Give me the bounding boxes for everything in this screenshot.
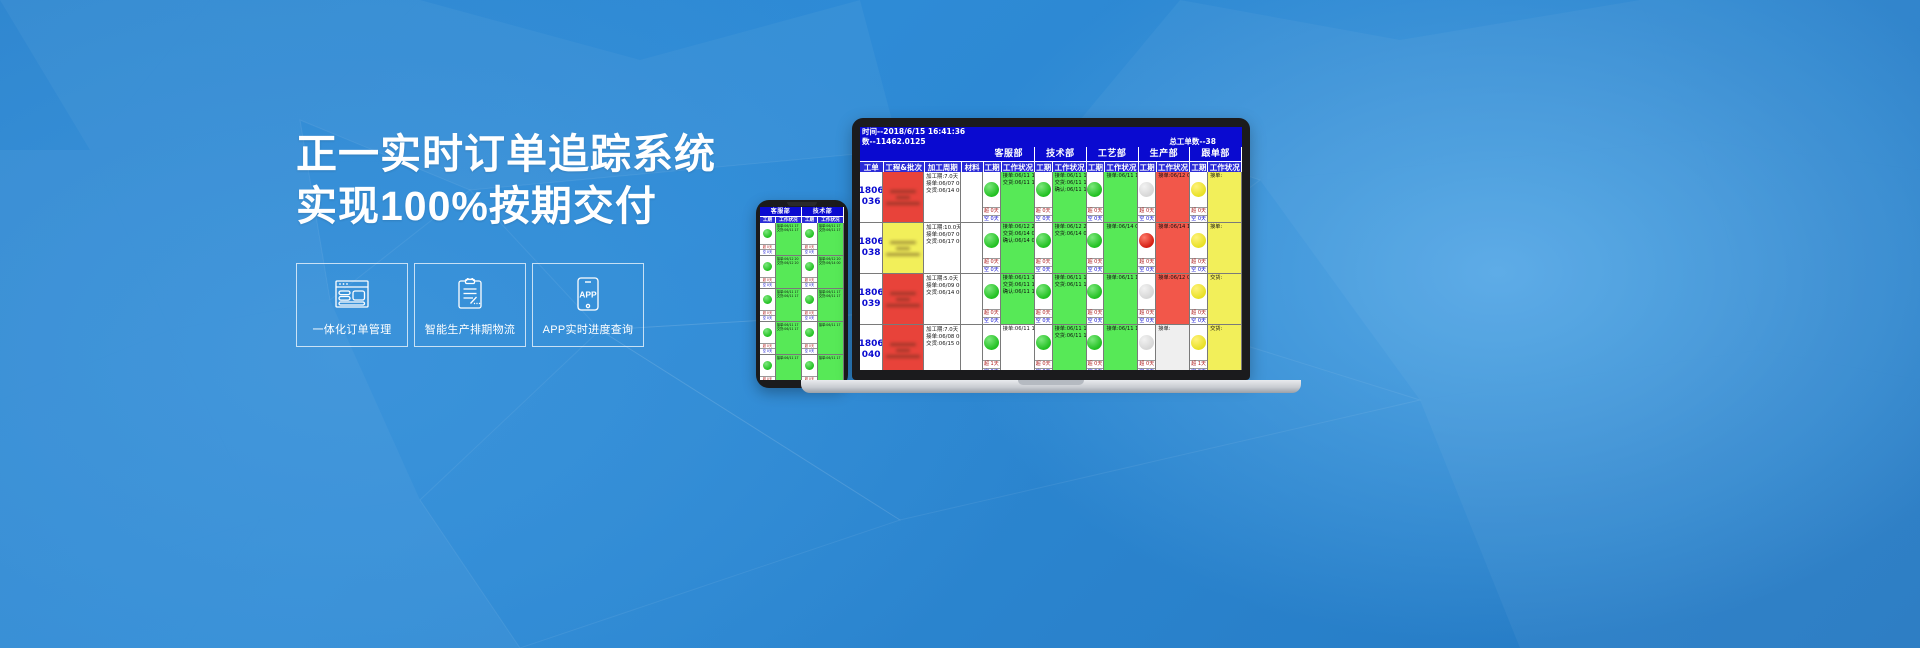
headline-line-2: 实现100%按期交付 [296,180,716,232]
erp-work-line-0: 接单: [1210,224,1240,231]
erp-cell-workstatus-1[interactable]: 接单:06/11 17交货:06/11 17 [1053,325,1087,370]
phone-work-line-1: 交货:06/14 00 [819,261,843,265]
laptop-mockup: 时间--2018/6/15 16:41:36 数--11462.0125 总工单… [852,118,1301,393]
phone-cell-duty-0[interactable]: 超 0天空 0天 [760,322,776,354]
erp-work-line-0: 接单:06/11 17 [1055,275,1085,282]
phone-idle-days: 空 0天 [760,249,775,255]
erp-over-days: 超 1天 [983,360,1000,368]
phone-cell-duty-0[interactable]: 超 0天空 0天 [760,256,776,288]
erp-idle-days: 空 0天 [1087,317,1104,325]
erp-cell-material [961,274,983,324]
erp-cycle-line-2: 交货:06/14 00 [926,290,959,297]
phone-work-line-1: 交货:06/11 17 [777,294,801,298]
feature-item-app-tracking[interactable]: APP APP实时进度查询 [532,263,644,347]
phone-cell-workstatus-0[interactable]: 接单:06/11 17交货:06/11 17 [776,289,802,321]
erp-cell-project [883,223,924,273]
erp-over-days: 超 1天 [1190,360,1207,368]
erp-cell-material [961,223,983,273]
status-dot-green-icon [763,328,772,337]
erp-over-days: 超 0天 [1190,309,1207,317]
status-dot-yellow-icon [1191,182,1206,197]
status-dot-green-icon [1036,182,1051,197]
phone-table-row[interactable]: 超 0天空 0天接单:06/12 20交货:06/12 20超 0天空 0天接单… [760,256,844,289]
erp-idle-days: 空 0天 [1190,215,1207,223]
erp-work-line-1: 交货:06/14 08 [1055,231,1085,238]
phone-dept-header-1[interactable]: 技术部 [802,207,844,216]
erp-idle-days: 空 0天 [1138,266,1155,274]
erp-cell-workstatus-0[interactable]: 接单:06/11 17交货:06/11 17确认:06/11 17 [1001,274,1035,324]
phone-work-line-1: 交货:06/11 17 [777,228,801,232]
phone-mockup: 客服部技术部 工期工作状况工期工作状况 超 0天空 0天接单:06/11 17交… [756,200,848,388]
erp-cycle-line-0: 加工期:7.0天 [926,327,959,334]
laptop-screen: 时间--2018/6/15 16:41:36 数--11462.0125 总工单… [860,127,1242,370]
erp-cell-workstatus-4[interactable]: 接单: [1208,172,1242,222]
phone-notch [787,202,817,206]
erp-idle-days: 空 0天 [1087,368,1104,371]
erp-col-0-工期[interactable]: 工期 [984,161,1002,172]
phone-screen: 客服部技术部 工期工作状况工期工作状况 超 0天空 0天接单:06/11 17交… [760,207,844,380]
erp-cell-duty-4[interactable]: 超 1天空 0天 [1190,325,1208,370]
status-dot-yellow-icon [1191,335,1206,350]
phone-cell-duty-0[interactable]: 超 0天空 0天 [760,355,776,380]
erp-idle-days: 空 0天 [1087,266,1104,274]
erp-work-line-0: 接单:06/12 09 [1158,275,1188,282]
phone-cell-duty-1[interactable]: 超 0天空 0天 [802,289,818,321]
phone-table-row[interactable]: 超 0天空 0天接单:06/11 17交货:06/11 17超 0天空 0天接单… [760,289,844,322]
erp-over-days: 超 0天 [1138,360,1155,368]
erp-cell-duty-1[interactable]: 超 0天空 0天 [1035,274,1053,324]
status-dot-green-icon [805,262,814,271]
erp-table-body: 1806036加工期:7.0天接单:06/07 00交货:06/14 00超 0… [860,172,1242,370]
phone-work-line-1: 交货:06/11 17 [819,294,843,298]
erp-idle-days: 空 0天 [983,215,1000,223]
erp-cycle-line-2: 交货:06/14 00 [926,188,959,195]
clipboard-icon [456,274,484,314]
feature-item-production-scheduling[interactable]: 智能生产排期物流 [414,263,526,347]
mobile-app-icon: APP [576,274,600,314]
erp-cell-workstatus-4[interactable]: 交货: [1208,325,1242,370]
status-dot-green-icon [763,361,772,370]
erp-col-4-工作状况[interactable]: 工作状况 [1208,161,1242,172]
laptop-trackpad-notch [1018,380,1084,385]
erp-cell-cycle: 加工期:7.0天接单:06/07 00交货:06/14 00 [924,172,961,222]
phone-idle-days: 空 0天 [760,348,775,354]
phone-cell-duty-1[interactable]: 超 0天空 0天 [802,223,818,255]
app-icon-text: APP [579,290,597,300]
phone-cell-duty-0[interactable]: 超 0天空 0天 [760,289,776,321]
erp-cell-duty-3[interactable]: 超 0天空 0天 [1138,274,1156,324]
erp-cell-duty-0[interactable]: 超 0天空 0天 [983,172,1001,222]
status-dot-green-icon [763,262,772,271]
erp-count-bar: 数--11462.0125 总工单数--38 [860,137,1242,147]
erp-over-days: 超 0天 [1138,207,1155,215]
laptop-base [801,380,1301,393]
erp-over-days: 超 0天 [1087,207,1104,215]
erp-cell-duty-3[interactable]: 超 0天空 0天 [1138,172,1156,222]
erp-cycle-line-2: 交货:06/15 00 [926,341,959,348]
erp-cell-material [961,325,983,370]
erp-cell-workorder: 1806040 [860,325,883,370]
erp-cell-duty-4[interactable]: 超 0天空 0天 [1190,274,1208,324]
status-dot-green-icon [805,229,814,238]
hero-copy: 正一实时订单追踪系统 实现100%按期交付 一体化订单管理 [296,128,716,347]
erp-cell-workstatus-0[interactable]: 接单:06/11 17交货:06/11 17 [1001,172,1035,222]
phone-col-0-工期[interactable]: 工期 [760,216,776,223]
erp-cycle-line-1: 接单:06/09 00 [926,283,959,290]
status-dot-gray-icon [1139,284,1154,299]
erp-idle-days: 空 0天 [983,317,1000,325]
erp-work-line-0: 接单:06/11 17 [1003,326,1033,333]
erp-over-days: 超 0天 [1087,258,1104,266]
feature-item-order-management[interactable]: 一体化订单管理 [296,263,408,347]
erp-cell-duty-1[interactable]: 超 0天空 0天 [1035,172,1053,222]
erp-over-days: 超 0天 [983,309,1000,317]
erp-cell-workstatus-4[interactable]: 交货: [1208,274,1242,324]
erp-over-days: 超 0天 [1138,258,1155,266]
status-dot-green-icon [984,182,999,197]
erp-cell-duty-0[interactable]: 超 0天空 0天 [983,223,1001,273]
erp-work-line-0: 接单:06/11 17 [1003,173,1033,180]
status-dot-green-icon [763,295,772,304]
phone-work-line-0: 接单:06/11 17 [819,323,843,327]
erp-work-line-0: 接单:06/11 17 [1106,275,1136,282]
erp-cell-workstatus-2[interactable]: 接单:06/14 00 [1104,223,1138,273]
status-dot-green-icon [1036,335,1051,350]
feature-label: APP实时进度查询 [543,321,634,337]
phone-cell-duty-0[interactable]: 超 0天空 0天 [760,223,776,255]
erp-work-line-0: 接单:06/12 09 [1158,173,1188,180]
phone-over-days: 超 0天 [760,376,775,380]
erp-work-line-1: 交货:06/11 17 [1055,180,1085,187]
erp-cell-workorder: 1806036 [860,172,883,222]
phone-work-line-1: 交货:06/12 20 [777,261,801,265]
phone-cell-duty-1[interactable]: 超 0天空 0天 [802,322,818,354]
erp-col-工单[interactable]: 工单 [860,161,884,172]
erp-work-line-0: 接单:06/11 17 [1055,173,1085,180]
erp-over-days: 超 0天 [1035,360,1052,368]
erp-table-row[interactable]: 1806036加工期:7.0天接单:06/07 00交货:06/14 00超 0… [860,172,1242,223]
erp-cell-duty-2[interactable]: 超 0天空 0天 [1087,274,1105,324]
erp-cell-workstatus-3[interactable]: 接单:06/14 14 [1156,223,1190,273]
status-dot-green-icon [1087,233,1102,248]
erp-table-row[interactable]: 1806038加工期:10.0天接单:06/07 00交货:06/17 00超 … [860,223,1242,274]
erp-col-2-工期[interactable]: 工期 [1087,161,1105,172]
erp-work-line-2: 确认:06/14 00 [1003,238,1033,245]
erp-cell-duty-4[interactable]: 超 0天空 0天 [1190,223,1208,273]
erp-cycle-line-1: 接单:06/07 00 [926,181,959,188]
erp-work-line-0: 接单:06/11 17 [1106,173,1136,180]
status-dot-green-icon [1087,182,1102,197]
erp-cycle-line-2: 交货:06/17 00 [926,239,959,246]
erp-table-row[interactable]: 1806039加工期:5.0天接单:06/09 00交货:06/14 00超 0… [860,274,1242,325]
status-dot-green-icon [984,284,999,299]
erp-cell-workorder: 1806039 [860,274,883,324]
erp-work-line-2: 确认:06/11 17 [1003,289,1033,296]
erp-dept-header-4[interactable]: 跟单部 [1190,147,1242,161]
erp-idle-days: 空 0天 [983,368,1000,371]
erp-work-line-1: 交货:06/11 17 [1055,333,1085,340]
status-dot-red-icon [1139,233,1154,248]
feature-label: 智能生产排期物流 [425,321,515,337]
erp-cell-workorder: 1806038 [860,223,883,273]
erp-col-3-工作状况[interactable]: 工作状况 [1157,161,1191,172]
erp-over-days: 超 0天 [1138,309,1155,317]
erp-dept-header-0[interactable]: 客服部 [983,147,1035,161]
erp-work-line-0: 接单:06/14 14 [1158,224,1188,231]
status-dot-green-icon [1036,284,1051,299]
erp-work-line-0: 接单:06/11 17 [1003,275,1033,282]
phone-work-line-1: 交货:06/11 17 [819,228,843,232]
phone-table-row[interactable]: 超 0天空 0天接单:06/11 17交货:06/11 17超 0天空 0天接单… [760,223,844,256]
erp-cell-workstatus-4[interactable]: 接单: [1208,223,1242,273]
erp-over-days: 超 0天 [1087,360,1104,368]
erp-idle-days: 空 0天 [1035,317,1052,325]
phone-cell-workstatus-0[interactable]: 接单:06/11 17交货:06/11 17 [776,223,802,255]
erp-dept-header-2[interactable]: 工艺部 [1087,147,1139,161]
erp-cell-project [883,172,924,222]
erp-cycle-line-0: 加工期:7.0天 [926,174,959,181]
erp-cell-project [883,274,924,324]
status-dot-green-icon [1087,335,1102,350]
erp-cell-workstatus-0[interactable]: 接单:06/11 17 [1001,325,1035,370]
erp-col-4-工期[interactable]: 工期 [1190,161,1208,172]
erp-status-bar: 时间--2018/6/15 16:41:36 [860,127,1242,137]
erp-work-line-1: 交货:06/11 17 [1003,282,1033,289]
erp-dept-spacer [860,147,983,161]
erp-idle-days: 空 0天 [1035,215,1052,223]
phone-table-body: 超 0天空 0天接单:06/11 17交货:06/11 17超 0天空 0天接单… [760,223,844,380]
erp-work-line-0: 交货: [1210,326,1240,333]
phone-cell-workstatus-1[interactable]: 接单:06/11 17 [818,355,844,380]
erp-idle-days: 空 0天 [1190,317,1207,325]
erp-col-材料[interactable]: 材料 [962,161,984,172]
phone-cell-workstatus-1[interactable]: 接单:06/11 17交货:06/11 17 [818,223,844,255]
phone-idle-days: 空 0天 [802,348,817,354]
erp-work-line-0: 接单: [1158,326,1188,333]
erp-idle-days: 空 0天 [1087,215,1104,223]
phone-work-line-1: 交货:06/11 17 [777,327,801,331]
erp-over-days: 超 0天 [983,207,1000,215]
erp-col-工程&批次[interactable]: 工程&批次 [884,161,925,172]
erp-cell-workstatus-1[interactable]: 接单:06/11 17交货:06/11 17 [1053,274,1087,324]
erp-cell-workstatus-3[interactable]: 接单: [1156,325,1190,370]
erp-cell-cycle: 加工期:5.0天接单:06/09 00交货:06/14 00 [924,274,961,324]
status-dot-green-icon [1036,233,1051,248]
erp-col-2-工作状况[interactable]: 工作状况 [1105,161,1139,172]
erp-cell-workstatus-3[interactable]: 接单:06/12 09 [1156,274,1190,324]
phone-idle-days: 空 0天 [802,249,817,255]
status-dot-gray-icon [1139,182,1154,197]
erp-cycle-line-1: 接单:06/08 00 [926,334,959,341]
erp-work-line-1: 交货:06/11 17 [1003,180,1033,187]
status-dot-yellow-icon [1191,284,1206,299]
phone-work-line-0: 接单:06/11 17 [819,356,843,360]
phone-col-1-工期[interactable]: 工期 [802,216,818,223]
erp-col-1-工期[interactable]: 工期 [1035,161,1053,172]
erp-cell-duty-2[interactable]: 超 0天空 0天 [1087,325,1105,370]
erp-work-line-0: 接单:06/12 20 [1055,224,1085,231]
phone-cell-workstatus-1[interactable]: 接单:06/11 17交货:06/11 17 [818,289,844,321]
device-group: 客服部技术部 工期工作状况工期工作状况 超 0天空 0天接单:06/11 17交… [740,118,1360,448]
erp-idle-days: 空 0天 [1138,368,1155,371]
phone-cell-duty-1[interactable]: 超 0天空 0天 [802,355,818,380]
erp-over-days: 超 0天 [1035,309,1052,317]
erp-cell-duty-1[interactable]: 超 0天空 0天 [1035,223,1053,273]
status-dot-green-icon [1087,284,1102,299]
erp-column-header: 工单工程&批次加工周期材料工期工作状况工期工作状况工期工作状况工期工作状况工期工… [860,161,1242,172]
dashboard-icon [335,274,369,314]
erp-work-line-0: 接单: [1210,173,1240,180]
erp-over-days: 超 0天 [1190,258,1207,266]
status-dot-green-icon [984,233,999,248]
erp-over-days: 超 0天 [1190,207,1207,215]
headline-line-1: 正一实时订单追踪系统 [296,128,716,180]
erp-col-3-工期[interactable]: 工期 [1139,161,1157,172]
status-dot-green-icon [805,361,814,370]
phone-idle-days: 空 0天 [760,315,775,321]
phone-work-line-0: 接单:06/11 17 [777,356,801,360]
erp-work-line-0: 接单:06/11 17 [1055,326,1085,333]
erp-work-line-1: 交货:06/11 17 [1055,282,1085,289]
erp-dept-header-3[interactable]: 生产部 [1139,147,1191,161]
phone-department-header: 客服部技术部 [760,207,844,216]
erp-cell-workstatus-0[interactable]: 接单:06/12 20交货:06/14 00确认:06/14 00 [1001,223,1035,273]
erp-cell-workstatus-1[interactable]: 接单:06/11 17交货:06/11 17确认:06/11 17 [1053,172,1087,222]
phone-table-row[interactable]: 超 0天空 0天接单:06/11 17超 0天空 0天接单:06/11 17 [760,355,844,380]
erp-over-days: 超 0天 [1035,258,1052,266]
erp-cell-workstatus-2[interactable]: 接单:06/11 17 [1104,274,1138,324]
erp-col-加工周期[interactable]: 加工周期 [925,161,962,172]
erp-work-line-1: 交货:06/14 00 [1003,231,1033,238]
feature-list: 一体化订单管理 智能生产排期物流 [296,263,716,347]
erp-count-label: 数--11462.0125 [862,137,926,147]
phone-col-1-工作状况[interactable]: 工作状况 [818,216,844,223]
phone-table-row[interactable]: 超 0天空 0天接单:06/11 17交货:06/11 17超 0天空 0天接单… [760,322,844,355]
erp-idle-days: 空 0天 [1138,317,1155,325]
phone-column-header: 工期工作状况工期工作状况 [760,216,844,223]
erp-cell-duty-3[interactable]: 超 0天空 0天 [1138,223,1156,273]
phone-cell-workstatus-0[interactable]: 接单:06/11 17 [776,355,802,380]
status-dot-yellow-icon [1191,233,1206,248]
erp-work-line-0: 接单:06/12 20 [1003,224,1033,231]
erp-cell-workstatus-2[interactable]: 接单:06/11 17 [1104,325,1138,370]
erp-over-days: 超 0天 [1087,309,1104,317]
erp-over-days: 超 0天 [1035,207,1052,215]
phone-cell-duty-1[interactable]: 超 0天空 0天 [802,256,818,288]
erp-idle-days: 空 0天 [1035,368,1052,371]
erp-cell-cycle: 加工期:10.0天接单:06/07 00交货:06/17 00 [924,223,961,273]
phone-idle-days: 空 0天 [802,315,817,321]
status-dot-green-icon [984,335,999,350]
phone-cell-workstatus-0[interactable]: 接单:06/12 20交货:06/12 20 [776,256,802,288]
erp-idle-days: 空 0天 [1190,368,1207,371]
phone-idle-days: 空 0天 [760,282,775,288]
erp-work-line-2: 确认:06/11 17 [1055,187,1085,194]
erp-work-line-0: 接单:06/14 00 [1106,224,1136,231]
erp-cell-duty-4[interactable]: 超 0天空 0天 [1190,172,1208,222]
erp-col-0-工作状况[interactable]: 工作状况 [1002,161,1036,172]
erp-department-header: 客服部技术部工艺部生产部跟单部 [860,147,1242,161]
erp-cell-workstatus-3[interactable]: 接单:06/12 09 [1156,172,1190,222]
erp-cycle-line-0: 加工期:10.0天 [926,225,959,232]
erp-idle-days: 空 0天 [1138,215,1155,223]
erp-cell-duty-1[interactable]: 超 0天空 0天 [1035,325,1053,370]
erp-dept-header-1[interactable]: 技术部 [1035,147,1087,161]
erp-table-row[interactable]: 1806040加工期:7.0天接单:06/08 00交货:06/15 00超 1… [860,325,1242,370]
phone-idle-days: 空 0天 [802,282,817,288]
phone-dept-header-0[interactable]: 客服部 [760,207,802,216]
erp-idle-days: 空 0天 [1035,266,1052,274]
erp-cell-duty-2[interactable]: 超 0天空 0天 [1087,223,1105,273]
erp-cell-duty-0[interactable]: 超 1天空 0天 [983,325,1001,370]
erp-cell-workstatus-1[interactable]: 接单:06/12 20交货:06/14 08 [1053,223,1087,273]
phone-cell-workstatus-1[interactable]: 接单:06/11 17 [818,322,844,354]
erp-cell-cycle: 加工期:7.0天接单:06/08 00交货:06/15 00 [924,325,961,370]
erp-col-1-工作状况[interactable]: 工作状况 [1053,161,1087,172]
erp-cell-duty-3[interactable]: 超 0天空 0天 [1138,325,1156,370]
erp-idle-days: 空 0天 [983,266,1000,274]
erp-cell-duty-0[interactable]: 超 0天空 0天 [983,274,1001,324]
erp-total-label: 总工单数--38 [1169,137,1240,147]
erp-work-line-0: 接单:06/11 17 [1106,326,1136,333]
status-dot-green-icon [805,328,814,337]
phone-cell-workstatus-0[interactable]: 接单:06/11 17交货:06/11 17 [776,322,802,354]
erp-cell-project [883,325,924,370]
erp-cycle-line-1: 接单:06/07 00 [926,232,959,239]
erp-time-label: 时间--2018/6/15 16:41:36 [862,127,965,137]
erp-cell-workstatus-2[interactable]: 接单:06/11 17 [1104,172,1138,222]
erp-over-days: 超 0天 [983,258,1000,266]
phone-cell-workstatus-1[interactable]: 接单:06/12 20交货:06/14 00 [818,256,844,288]
status-dot-gray-icon [1139,335,1154,350]
erp-cell-duty-2[interactable]: 超 0天空 0天 [1087,172,1105,222]
erp-idle-days: 空 0天 [1190,266,1207,274]
erp-work-line-0: 交货: [1210,275,1240,282]
status-dot-green-icon [763,229,772,238]
status-dot-green-icon [805,295,814,304]
feature-label: 一体化订单管理 [312,321,391,337]
erp-cycle-line-0: 加工期:5.0天 [926,276,959,283]
erp-cell-material [961,172,983,222]
phone-col-0-工作状况[interactable]: 工作状况 [776,216,802,223]
